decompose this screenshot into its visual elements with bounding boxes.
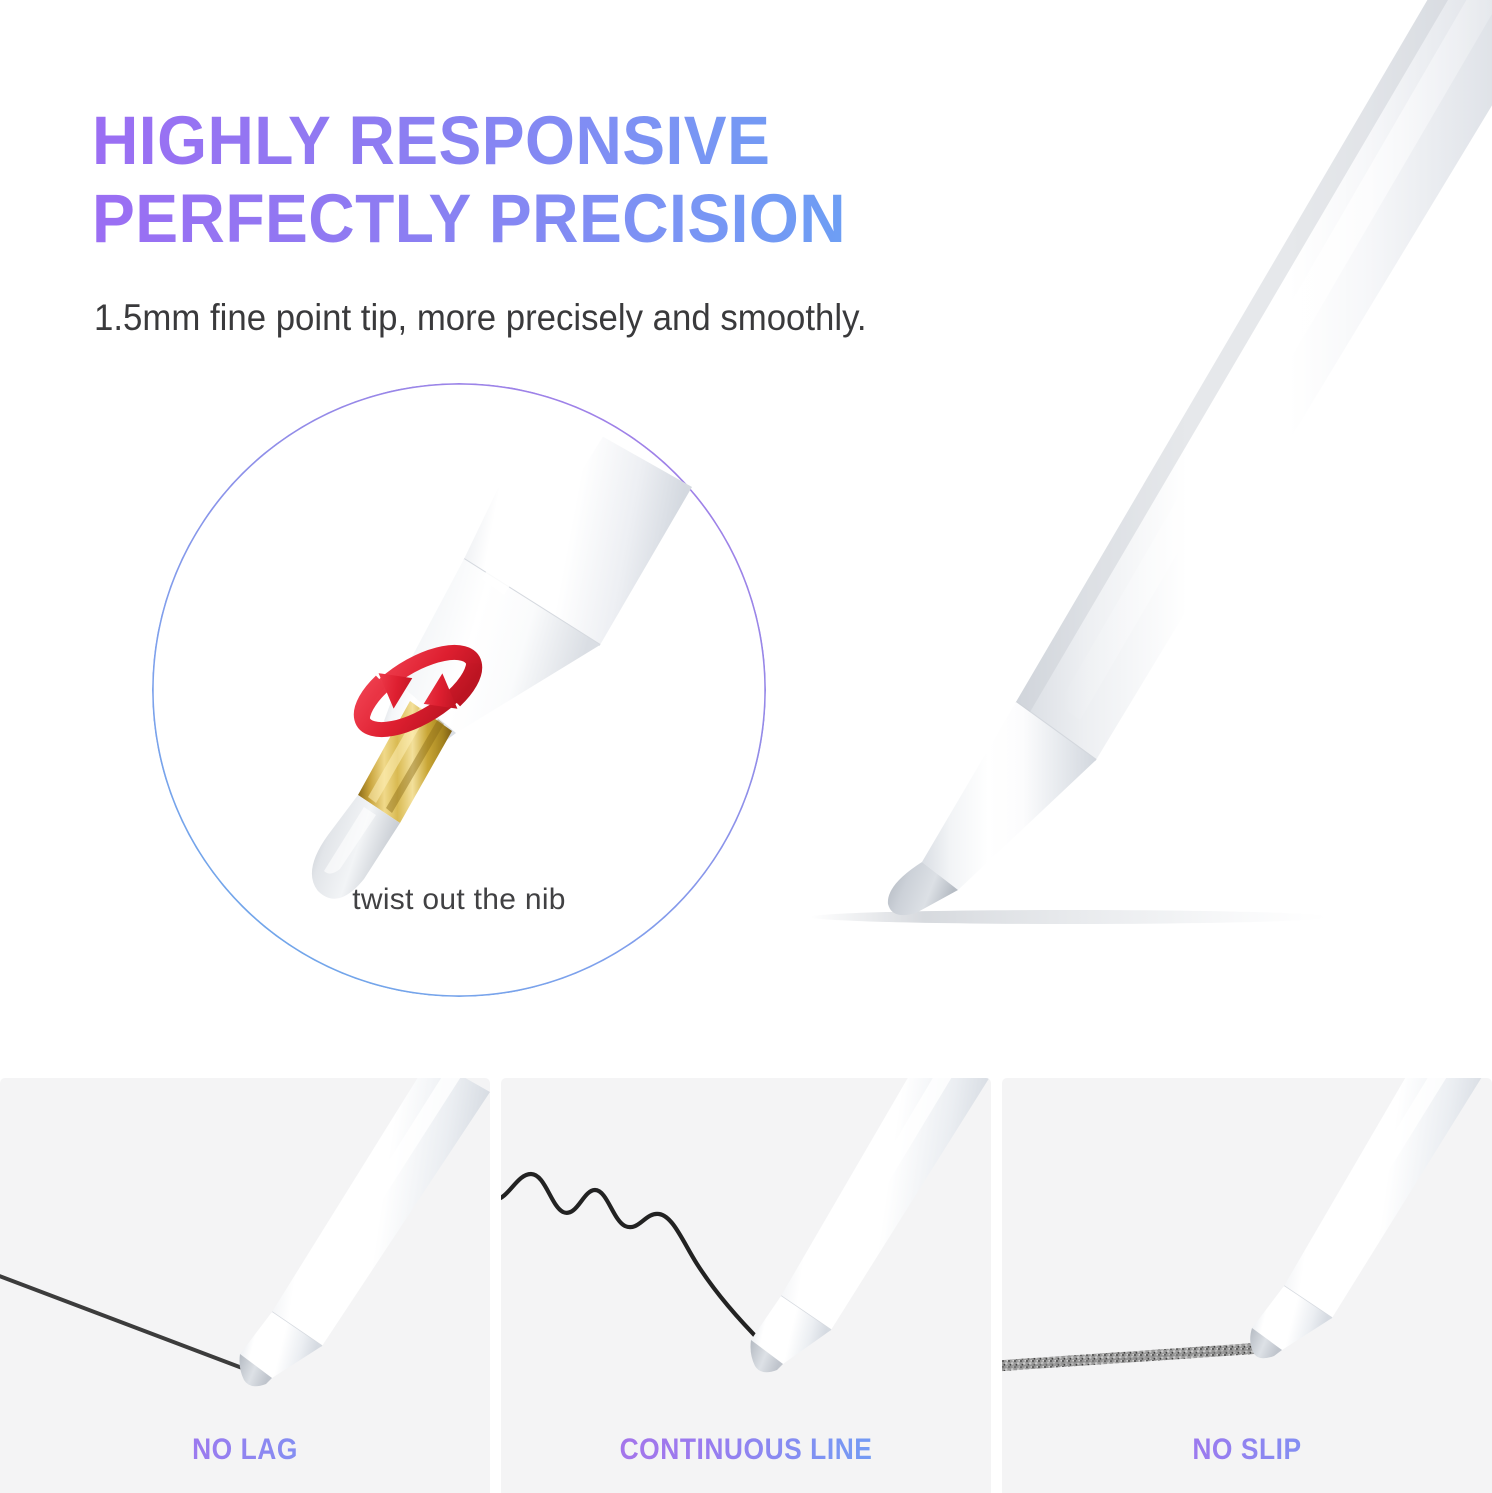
pen-specular-highlight (1058, 0, 1492, 720)
panel1-pen-barrel (272, 1078, 490, 1346)
feature-panels: NO LAG (0, 1078, 1492, 1493)
panel-label-continuous-line: CONTINUOUS LINE (530, 1433, 961, 1467)
headline-line-1: HIGHLY RESPONSIVE (92, 102, 1022, 180)
panel-no-lag: NO LAG (0, 1078, 490, 1493)
no-lag-stroke (0, 1274, 258, 1374)
no-lag-illustration (0, 1078, 490, 1493)
nib-detail-inset: twist out the nib (152, 383, 766, 997)
no-slip-illustration (1002, 1078, 1492, 1493)
continuous-line-stroke (501, 1174, 769, 1350)
no-slip-textured-stroke (1002, 1348, 1262, 1366)
headline-block: HIGHLY RESPONSIVE PERFECTLY PRECISION (92, 102, 1092, 258)
subheading-text: 1.5mm fine point tip, more precisely and… (94, 297, 867, 339)
panel3-pen-barrel (1284, 1078, 1490, 1318)
continuous-line-illustration (501, 1078, 991, 1493)
inset-caption: twist out the nib (152, 883, 766, 917)
panel-label-no-slip: NO SLIP (1031, 1433, 1462, 1467)
hero-section: HIGHLY RESPONSIVE PERFECTLY PRECISION 1.… (0, 0, 1492, 1078)
pen-contact-shadow (810, 910, 1330, 924)
panel2-pen-barrel (781, 1078, 991, 1330)
panel-no-slip: NO SLIP (1002, 1078, 1492, 1493)
headline-line-2: PERFECTLY PRECISION (92, 180, 1022, 258)
panel-continuous-line: CONTINUOUS LINE (501, 1078, 991, 1493)
panel-label-no-lag: NO LAG (29, 1433, 460, 1467)
